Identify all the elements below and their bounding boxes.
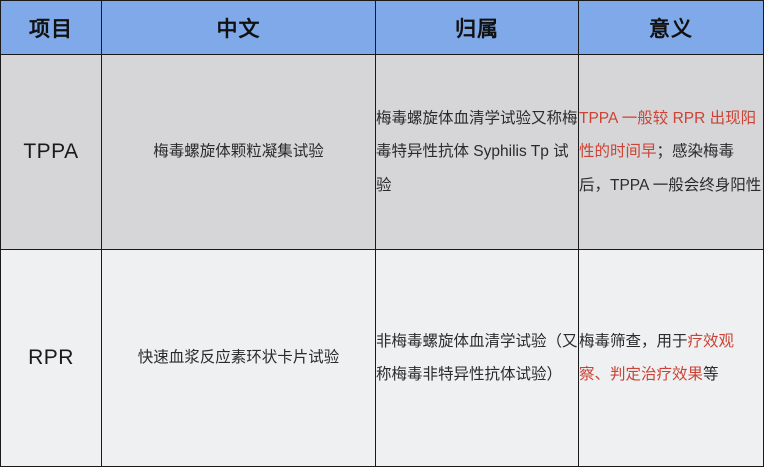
plain-text-run: 等: [703, 366, 719, 383]
test-meaning-tppa: TPPA 一般较 RPR 出现阳性的时间早；感染梅毒后，TPPA 一般会终身阳性: [579, 55, 764, 250]
meaning-rich-text-tppa: TPPA 一般较 RPR 出现阳性的时间早；感染梅毒后，TPPA 一般会终身阳性: [579, 102, 763, 202]
test-code-rpr: RPR: [1, 250, 102, 467]
test-chinese-name-tppa: 梅毒螺旋体颗粒凝集试验: [102, 55, 376, 250]
column-header-meaning: 意义: [579, 1, 764, 55]
column-header-chinese: 中文: [102, 1, 376, 55]
test-attribution-rpr: 非梅毒螺旋体血清学试验（又称梅毒非特异性抗体试验）: [376, 250, 579, 467]
test-meaning-rpr: 梅毒筛查，用于疗效观察、判定治疗效果等: [579, 250, 764, 467]
table-row: RPR 快速血浆反应素环状卡片试验 非梅毒螺旋体血清学试验（又称梅毒非特异性抗体…: [1, 250, 764, 467]
test-chinese-name-rpr: 快速血浆反应素环状卡片试验: [102, 250, 376, 467]
test-code-tppa: TPPA: [1, 55, 102, 250]
meaning-rich-text-rpr: 梅毒筛查，用于疗效观察、判定治疗效果等: [579, 325, 763, 392]
column-header-item: 项目: [1, 1, 102, 55]
table-header-row: 项目 中文 归属 意义: [1, 1, 764, 55]
syphilis-test-comparison-table: 项目 中文 归属 意义 TPPA 梅毒螺旋体颗粒凝集试验 梅毒螺旋体血清学试验又…: [0, 0, 764, 467]
table-row: TPPA 梅毒螺旋体颗粒凝集试验 梅毒螺旋体血清学试验又称梅毒特异性抗体 Syp…: [1, 55, 764, 250]
comparison-table-container: 项目 中文 归属 意义 TPPA 梅毒螺旋体颗粒凝集试验 梅毒螺旋体血清学试验又…: [0, 0, 770, 468]
test-attribution-tppa: 梅毒螺旋体血清学试验又称梅毒特异性抗体 Syphilis Tp 试验: [376, 55, 579, 250]
column-header-attribution: 归属: [376, 1, 579, 55]
plain-text-run: 梅毒筛查，用于: [579, 333, 688, 350]
